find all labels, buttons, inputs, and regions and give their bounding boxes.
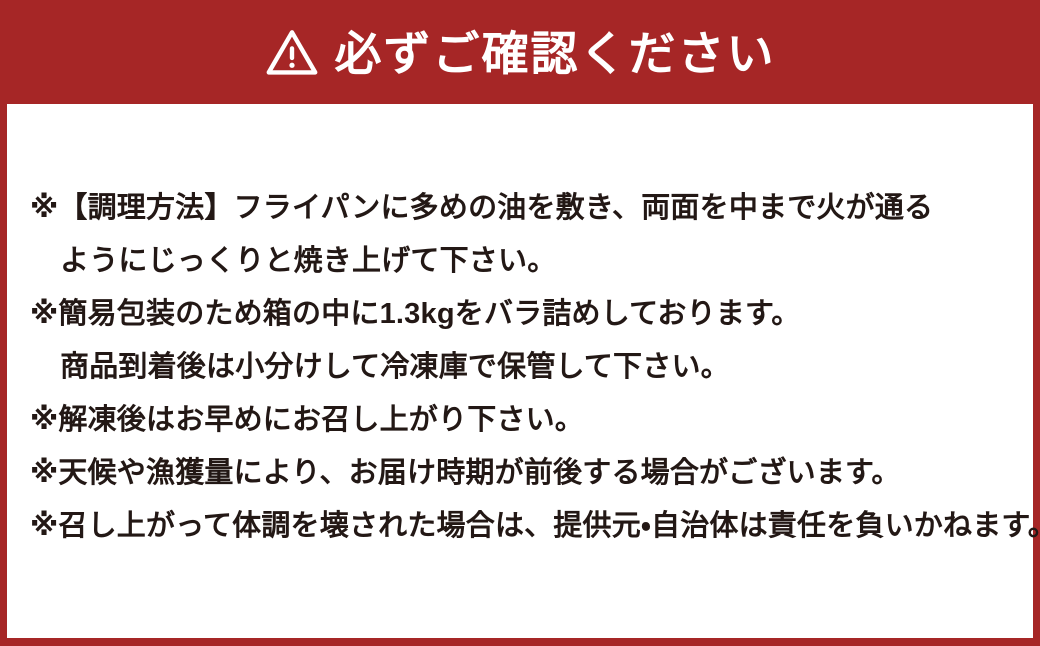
notice-line-1: ※【調理方法】フライパンに多めの油を敷き、両面を中まで火が通る [30, 182, 1033, 235]
notice-line-4: 商品到着後は小分けして冷凍庫で保管して下さい。 [30, 341, 1033, 394]
notice-line-3: ※簡易包装のため箱の中に1.3kgをバラ詰めしております。 [30, 288, 1033, 341]
notice-line-7: ※召し上がって体調を壊された場合は、提供元・自治体は責任を負いかねます。 [30, 500, 1033, 553]
page-title: 必ずご確認ください [335, 30, 776, 77]
notice-body: ※【調理方法】フライパンに多めの油を敷き、両面を中まで火が通る ようにじっくりと… [7, 104, 1033, 638]
notice-header: 必ずご確認ください [0, 0, 1040, 104]
notice-card: 必ずご確認ください ※【調理方法】フライパンに多めの油を敷き、両面を中まで火が通… [0, 0, 1040, 646]
notice-line-2: ようにじっくりと焼き上げて下さい。 [30, 235, 1033, 288]
notice-line-6: ※天候や漁獲量により、お届け時期が前後する場合がございます。 [30, 447, 1033, 500]
warning-triangle-icon [265, 26, 319, 80]
notice-line-5: ※解凍後はお早めにお召し上がり下さい。 [30, 394, 1033, 447]
